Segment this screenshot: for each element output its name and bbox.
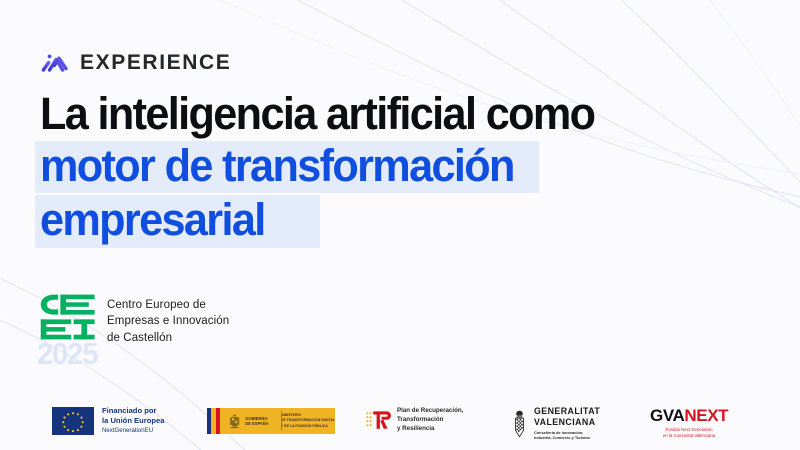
logo-plan-recuperacion: Plan de Recuperación, Transformación y R…	[365, 407, 463, 434]
headline-line-3: empresarial	[40, 195, 770, 248]
prtr-tr-mark-icon	[365, 408, 391, 432]
ia-chevron-logo-icon	[41, 49, 71, 75]
headline-line-2-highlight: motor de transformación	[35, 141, 539, 194]
ceei-name: Centro Europeo de Empresas e Innovación …	[107, 294, 229, 346]
generalitat-department: Conselleria de Innovación,Industria, Com…	[534, 430, 600, 441]
headline-line-2: motor de transformación	[40, 141, 770, 194]
ceei-name-line-1: Centro Europeo de	[107, 297, 229, 313]
headline-line-1: La inteligencia artificial como	[40, 92, 770, 137]
gobierno-divider	[281, 411, 282, 431]
eu-line-3: NextGenerationEU	[102, 427, 164, 435]
gvanext-gva: GVA	[650, 406, 684, 425]
gobierno-ministry: MINISTERIODE TRANSFORMACIÓN DIGITALY DE …	[281, 413, 335, 428]
gobierno-label: GOBIERNODE ESPAÑA	[245, 416, 269, 427]
presentation-slide: EXPERIENCE La inteligencia artificial co…	[0, 0, 800, 450]
logo-generalitat-valenciana: GENERALITAT VALENCIANA Conselleria de In…	[512, 406, 600, 441]
headline-line-1-text: La inteligencia artificial como	[40, 92, 594, 137]
gobierno-plate: GOBIERNODE ESPAÑA MINISTERIODE TRANSFORM…	[207, 408, 335, 434]
ceei-name-line-3: de Castellón	[107, 330, 229, 346]
spain-flag-bars-icon	[207, 408, 225, 434]
headline-line-3-text: empresarial	[40, 198, 265, 243]
prtr-line-2: Transformación	[397, 416, 463, 425]
funding-logos-bar: Financiado por la Unión Europea NextGene…	[0, 398, 800, 450]
prtr-line-3: y Resiliencia	[397, 425, 463, 434]
brand-wordmark: EXPERIENCE	[80, 52, 231, 73]
ceei-year: 2025	[37, 338, 97, 369]
spain-coat-of-arms-icon	[229, 411, 240, 432]
generalitat-valenciana-arms-icon	[512, 410, 527, 438]
gvanext-subtitle-line-2: en la Comunitat Valenciana	[650, 433, 728, 439]
generalitat-line-1: GENERALITAT	[534, 406, 600, 417]
ceei-monogram-icon	[40, 294, 95, 340]
generalitat-line-2: VALENCIANA	[534, 417, 600, 428]
headline-line-2-text: motor de transformación	[40, 144, 514, 189]
ceei-name-line-2: Empresas e Innovación	[107, 313, 229, 329]
generalitat-text: GENERALITAT VALENCIANA Conselleria de In…	[534, 406, 600, 441]
headline-line-3-highlight: empresarial	[35, 195, 320, 248]
eu-flag-icon	[52, 407, 94, 435]
eu-text: Financiado por la Unión Europea NextGene…	[102, 406, 164, 435]
logo-gva-next: GVANEXT Fondos Next Generation en la Com…	[650, 407, 728, 440]
brand-lockup: EXPERIENCE	[41, 49, 231, 75]
prtr-text: Plan de Recuperación, Transformación y R…	[397, 407, 463, 434]
eu-line-1: Financiado por	[102, 406, 164, 416]
eu-line-2: la Unión Europea	[102, 416, 164, 426]
prtr-line-1: Plan de Recuperación,	[397, 407, 463, 416]
gvanext-wordmark: GVANEXT	[650, 407, 728, 424]
logo-european-union: Financiado por la Unión Europea NextGene…	[52, 406, 164, 435]
logo-gobierno-de-espana: GOBIERNODE ESPAÑA MINISTERIODE TRANSFORM…	[207, 408, 335, 434]
gvanext-subtitle: Fondos Next Generation en la Comunitat V…	[650, 427, 728, 440]
gvanext-next: NEXT	[684, 406, 728, 425]
page-title: La inteligencia artificial como motor de…	[40, 92, 770, 248]
